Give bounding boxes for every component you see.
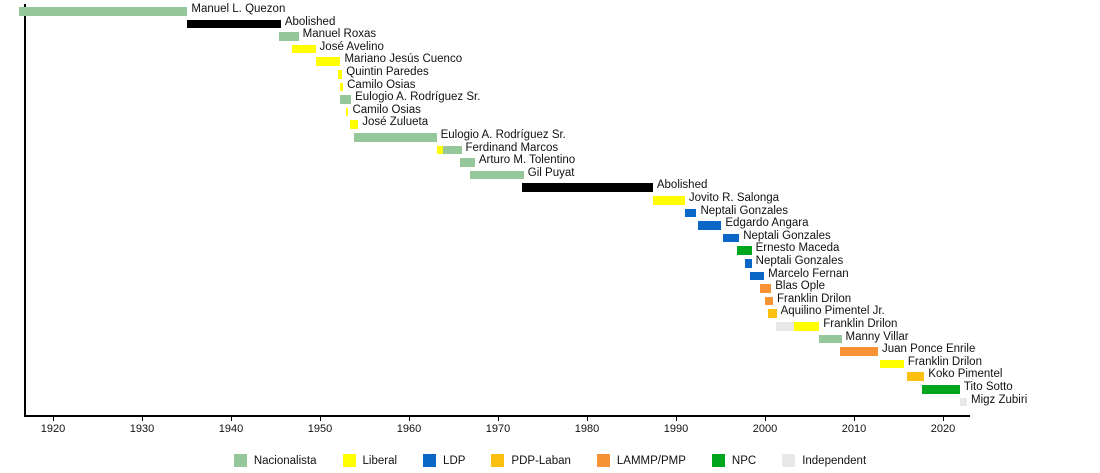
timeline-bar-segment (880, 360, 904, 369)
timeline-bar-segment (522, 183, 653, 192)
timeline-bar-label: Camilo Osias (352, 104, 420, 117)
timeline-bar-segment (460, 158, 475, 167)
timeline-bar-row: Franklin Drilon (0, 320, 1100, 333)
plot-area: Manuel L. QuezonAbolishedManuel RoxasJos… (0, 0, 1100, 418)
x-axis-tick-mark (854, 416, 855, 421)
timeline-bar-label: Mariano Jesús Cuenco (344, 53, 462, 66)
x-axis-tick-mark (53, 416, 54, 421)
timeline-bar-label: Franklin Drilon (777, 293, 851, 306)
timeline-bar-row: Neptali Gonzales (0, 207, 1100, 220)
timeline-bar-segment (340, 83, 343, 92)
timeline-bar-row: Tito Sotto (0, 383, 1100, 396)
timeline-bar-row: Migz Zubiri (0, 396, 1100, 409)
timeline-bar-segment (907, 372, 925, 381)
x-axis-tick-label: 1970 (486, 423, 510, 435)
x-axis-tick-label: 2000 (753, 423, 777, 435)
x-axis-tick-label: 1990 (664, 423, 688, 435)
timeline-bar-label: Blas Ople (775, 280, 825, 293)
legend-color-swatch (782, 454, 795, 467)
x-axis-tick-mark (587, 416, 588, 421)
timeline-bar-label: Edgardo Angara (725, 217, 808, 230)
timeline-bar-segment (750, 272, 764, 281)
chart-legend: NacionalistaLiberalLDPPDP-LabanLAMMP/PMP… (0, 448, 1100, 473)
timeline-bar-row: Quintin Paredes (0, 68, 1100, 81)
timeline-bar-label: Eulogio A. Rodríguez Sr. (441, 129, 566, 142)
legend-item[interactable]: Liberal (343, 454, 398, 467)
timeline-bar-label: Arturo M. Tolentino (479, 154, 575, 167)
timeline-bar-label: Manny Villar (846, 331, 909, 344)
timeline-bar-segment (19, 7, 187, 16)
legend-item[interactable]: Independent (782, 454, 866, 467)
timeline-bar-row: Camilo Osias (0, 106, 1100, 119)
timeline-bar-label: José Zulueta (362, 116, 428, 129)
timeline-bar-segment (698, 221, 721, 230)
timeline-bar-row: Jovito R. Salonga (0, 194, 1100, 207)
x-axis-tick-label: 1920 (41, 423, 65, 435)
timeline-bar-row: Gil Puyat (0, 169, 1100, 182)
timeline-bar-label: Neptali Gonzales (756, 255, 844, 268)
timeline-bar-segment (760, 284, 772, 293)
timeline-bar-segment (443, 146, 462, 155)
timeline-bar-row: Manuel L. Quezon (0, 5, 1100, 18)
timeline-bar-segment (765, 297, 773, 306)
x-axis-tick-mark (943, 416, 944, 421)
timeline-bar-row: Mariano Jesús Cuenco (0, 55, 1100, 68)
timeline-bar-segment (653, 196, 685, 205)
legend-color-swatch (343, 454, 356, 467)
timeline-bar-segment (316, 57, 341, 66)
legend-item[interactable]: Nacionalista (234, 454, 317, 467)
legend-item[interactable]: LAMMP/PMP (597, 454, 686, 467)
legend-label: Independent (802, 455, 866, 467)
x-axis-tick-mark (409, 416, 410, 421)
legend-color-swatch (597, 454, 610, 467)
legend-color-swatch (423, 454, 436, 467)
timeline-bar-label: Marcelo Fernan (768, 268, 849, 281)
timeline-bar-row: Abolished (0, 18, 1100, 31)
legend-color-swatch (234, 454, 247, 467)
timeline-bar-label: Manuel Roxas (303, 28, 377, 41)
timeline-bar-row: Koko Pimentel (0, 370, 1100, 383)
x-axis-tick-label: 1940 (219, 423, 243, 435)
timeline-bar-label: Neptali Gonzales (700, 205, 788, 218)
timeline-bar-segment (187, 20, 280, 29)
timeline-bar-label: Franklin Drilon (823, 318, 897, 331)
x-axis-tick-label: 1960 (397, 423, 421, 435)
x-axis-tick-mark (498, 416, 499, 421)
timeline-bar-row: Eulogio A. Rodríguez Sr. (0, 93, 1100, 106)
timeline-bar-segment (470, 171, 523, 180)
senate-president-timeline-chart: Manuel L. QuezonAbolishedManuel RoxasJos… (0, 0, 1100, 473)
timeline-bar-segment (960, 398, 967, 407)
x-axis-tick-mark (676, 416, 677, 421)
legend-label: Nacionalista (254, 455, 317, 467)
timeline-bar-label: Eulogio A. Rodríguez Sr. (355, 91, 480, 104)
timeline-bar-row: Neptali Gonzales (0, 257, 1100, 270)
timeline-bar-label: Abolished (657, 179, 708, 192)
timeline-bar-label: Gil Puyat (528, 167, 575, 180)
x-axis-line (24, 415, 970, 417)
timeline-bar-segment (340, 95, 352, 104)
timeline-bar-segment (819, 335, 841, 344)
timeline-bar-label: Aquilino Pimentel Jr. (781, 305, 885, 318)
x-axis-tick-mark (231, 416, 232, 421)
legend-label: Liberal (363, 455, 398, 467)
timeline-bar-segment (338, 70, 342, 79)
timeline-bar-label: Ferdinand Marcos (466, 142, 559, 155)
timeline-bar-label: Ernesto Maceda (756, 242, 840, 255)
timeline-bar-row: Camilo Osias (0, 81, 1100, 94)
legend-label: PDP-Laban (511, 455, 570, 467)
timeline-bar-row: José Avelino (0, 43, 1100, 56)
timeline-bar-row: Edgardo Angara (0, 219, 1100, 232)
timeline-bar-label: Abolished (285, 16, 336, 29)
timeline-bar-segment (922, 385, 960, 394)
x-axis-tick-label: 1930 (130, 423, 154, 435)
x-axis-tick-label: 2010 (842, 423, 866, 435)
timeline-bar-row: Ernesto Maceda (0, 244, 1100, 257)
timeline-bar-row: Abolished (0, 181, 1100, 194)
x-axis-tick-mark (142, 416, 143, 421)
timeline-bar-label: Tito Sotto (964, 381, 1013, 394)
timeline-bar-segment (768, 309, 777, 318)
timeline-bar-segment (776, 322, 795, 331)
timeline-bar-label: Juan Ponce Enrile (882, 343, 975, 356)
timeline-bar-row: Aquilino Pimentel Jr. (0, 307, 1100, 320)
timeline-bar-segment (840, 347, 878, 356)
timeline-bar-row: Marcelo Fernan (0, 270, 1100, 283)
legend-label: LAMMP/PMP (617, 455, 686, 467)
x-axis-tick-mark (320, 416, 321, 421)
timeline-bar-label: Manuel L. Quezon (191, 3, 285, 16)
timeline-bar-segment (292, 45, 316, 54)
legend-color-swatch (491, 454, 504, 467)
timeline-bar-row: Manuel Roxas (0, 30, 1100, 43)
legend-color-swatch (712, 454, 725, 467)
legend-item[interactable]: LDP (423, 454, 465, 467)
legend-label: LDP (443, 455, 465, 467)
x-axis-tick-mark (765, 416, 766, 421)
timeline-bar-label: Jovito R. Salonga (689, 192, 779, 205)
timeline-bar-segment (745, 259, 752, 268)
legend-item[interactable]: PDP-Laban (491, 454, 570, 467)
timeline-bar-segment (737, 246, 752, 255)
timeline-bar-label: Quintin Paredes (346, 66, 428, 79)
timeline-bar-segment (685, 209, 697, 218)
timeline-bar-label: Camilo Osias (347, 79, 415, 92)
timeline-bar-label: Franklin Drilon (908, 356, 982, 369)
timeline-bar-row: Neptali Gonzales (0, 232, 1100, 245)
x-axis-tick-label: 2020 (931, 423, 955, 435)
x-axis-tick-label: 1980 (575, 423, 599, 435)
timeline-bar-segment (723, 234, 739, 243)
x-axis-tick-label: 1950 (308, 423, 332, 435)
timeline-bar-segment (279, 32, 299, 41)
timeline-bar-row: Blas Ople (0, 282, 1100, 295)
timeline-bar-label: Migz Zubiri (971, 394, 1027, 407)
legend-label: NPC (732, 455, 756, 467)
timeline-bar-segment (350, 120, 358, 129)
timeline-bar-segment (354, 133, 437, 142)
timeline-bar-segment (346, 108, 349, 117)
timeline-bar-label: Neptali Gonzales (743, 230, 831, 243)
timeline-bar-segment (794, 322, 819, 331)
timeline-bar-row: Franklin Drilon (0, 295, 1100, 308)
timeline-bar-label: José Avelino (320, 41, 384, 54)
legend-item[interactable]: NPC (712, 454, 756, 467)
timeline-bar-label: Koko Pimentel (928, 368, 1002, 381)
